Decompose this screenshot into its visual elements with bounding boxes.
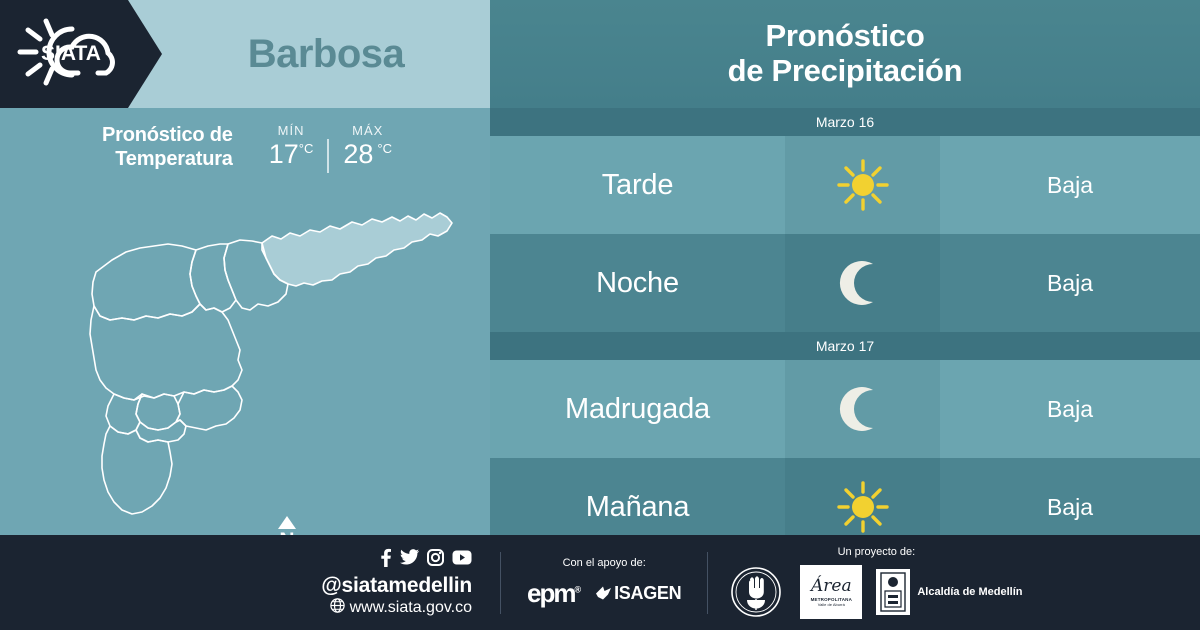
support-logos: epm® ISAGEN xyxy=(527,578,681,609)
globe-icon xyxy=(330,598,345,618)
date-band: Marzo 16 xyxy=(490,108,1200,136)
precipitation-probability: Baja xyxy=(940,360,1200,458)
map-region-caldas xyxy=(102,426,172,514)
instagram-icon[interactable] xyxy=(427,549,444,571)
left-panel: SIATA Barbosa Pronóstico de Temperatura … xyxy=(0,0,490,535)
map-region-copacabana xyxy=(190,244,236,312)
temperature-block: Pronóstico de Temperatura MÍN 17°C MÁX 2… xyxy=(0,108,490,188)
temperature-title: Pronóstico de Temperatura xyxy=(102,124,233,171)
city-header: SIATA Barbosa xyxy=(0,0,490,108)
temperature-max: MÁX 28°C xyxy=(329,123,406,170)
sun-icon xyxy=(785,136,940,234)
map-region-barbosa xyxy=(262,213,452,286)
alcaldia-crest-icon xyxy=(876,569,910,615)
precipitation-title-line2: de Precipitación xyxy=(728,54,963,89)
epm-logo: epm® xyxy=(527,578,581,609)
social-block: @siatamedellin www.siata.gov.co xyxy=(0,548,500,618)
facebook-icon[interactable] xyxy=(379,548,392,572)
min-unit: °C xyxy=(299,141,314,156)
temperature-title-line2: Temperatura xyxy=(102,148,233,172)
website-line[interactable]: www.siata.gov.co xyxy=(330,598,472,618)
alcaldia-label: Alcaldía de Medellín xyxy=(917,586,1022,598)
weather-forecast-infographic: SIATA Barbosa Pronóstico de Temperatura … xyxy=(0,0,1200,630)
moon-icon xyxy=(785,234,940,332)
forecast-period: Noche xyxy=(490,234,785,332)
min-value-wrap: 17°C xyxy=(269,139,314,170)
project-block: Un proyecto de: Área METROPOLITANA Valle… xyxy=(708,546,1022,619)
precipitation-title-line1: Pronóstico xyxy=(766,19,925,54)
area-script: Área xyxy=(811,578,852,595)
sun-cloud-icon: SIATA xyxy=(12,13,130,96)
project-logos: Área METROPOLITANA Valle de Aburrá xyxy=(730,565,1022,619)
moon-icon xyxy=(785,360,940,458)
social-icons xyxy=(379,548,472,572)
max-value: 28 xyxy=(343,139,373,169)
twitter-icon[interactable] xyxy=(400,549,419,571)
footer: @siatamedellin www.siata.gov.co Con el a… xyxy=(0,535,1200,630)
min-value: 17 xyxy=(269,139,299,169)
project-caption: Un proyecto de: xyxy=(838,546,916,558)
precipitation-probability: Baja xyxy=(940,234,1200,332)
area-metropolitana-logo: Área METROPOLITANA Valle de Aburrá xyxy=(800,565,862,619)
forecast-row: Tarde Baja xyxy=(490,136,1200,234)
map-region-sabaneta xyxy=(136,420,186,442)
siata-logo-text: SIATA xyxy=(41,42,101,65)
max-value-wrap: 28°C xyxy=(343,139,392,170)
map-region-bello xyxy=(92,244,200,320)
temperature-min: MÍN 17°C xyxy=(255,123,328,170)
min-label: MÍN xyxy=(269,123,314,138)
precipitation-panel: Pronóstico de Precipitación Marzo 16 Tar… xyxy=(490,0,1200,535)
map-region-medellin xyxy=(90,304,242,400)
city-name: Barbosa xyxy=(162,0,490,108)
date-band: Marzo 17 xyxy=(490,332,1200,360)
forecast-period: Madrugada xyxy=(490,360,785,458)
area-sub2: Valle de Aburrá xyxy=(818,602,845,607)
precipitation-probability: Baja xyxy=(940,136,1200,234)
temperature-values: MÍN 17°C MÁX 28°C xyxy=(255,123,406,173)
temperature-title-line1: Pronóstico de xyxy=(102,124,233,148)
forecast-row: Noche Baja xyxy=(490,234,1200,332)
isagen-logo: ISAGEN xyxy=(595,583,681,604)
map-region-envigado xyxy=(176,386,242,430)
forecast-row: Madrugada Baja xyxy=(490,360,1200,458)
max-label: MÁX xyxy=(343,123,392,138)
aburra-valley-map: N xyxy=(0,186,490,535)
social-handle[interactable]: @siatamedellin xyxy=(321,574,472,598)
support-block: Con el apoyo de: epm® ISAGEN xyxy=(501,557,707,609)
north-arrow-icon xyxy=(278,516,296,529)
siata-logo-badge: SIATA xyxy=(0,0,162,108)
website-url: www.siata.gov.co xyxy=(350,599,472,617)
support-caption: Con el apoyo de: xyxy=(563,557,646,569)
max-unit: °C xyxy=(377,141,392,156)
precipitation-header: Pronóstico de Precipitación xyxy=(490,0,1200,108)
alcaldia-logo: Alcaldía de Medellín xyxy=(876,569,1022,615)
universidad-de-medellin-seal-icon xyxy=(730,566,782,618)
youtube-icon[interactable] xyxy=(452,550,472,570)
forecast-period: Tarde xyxy=(490,136,785,234)
